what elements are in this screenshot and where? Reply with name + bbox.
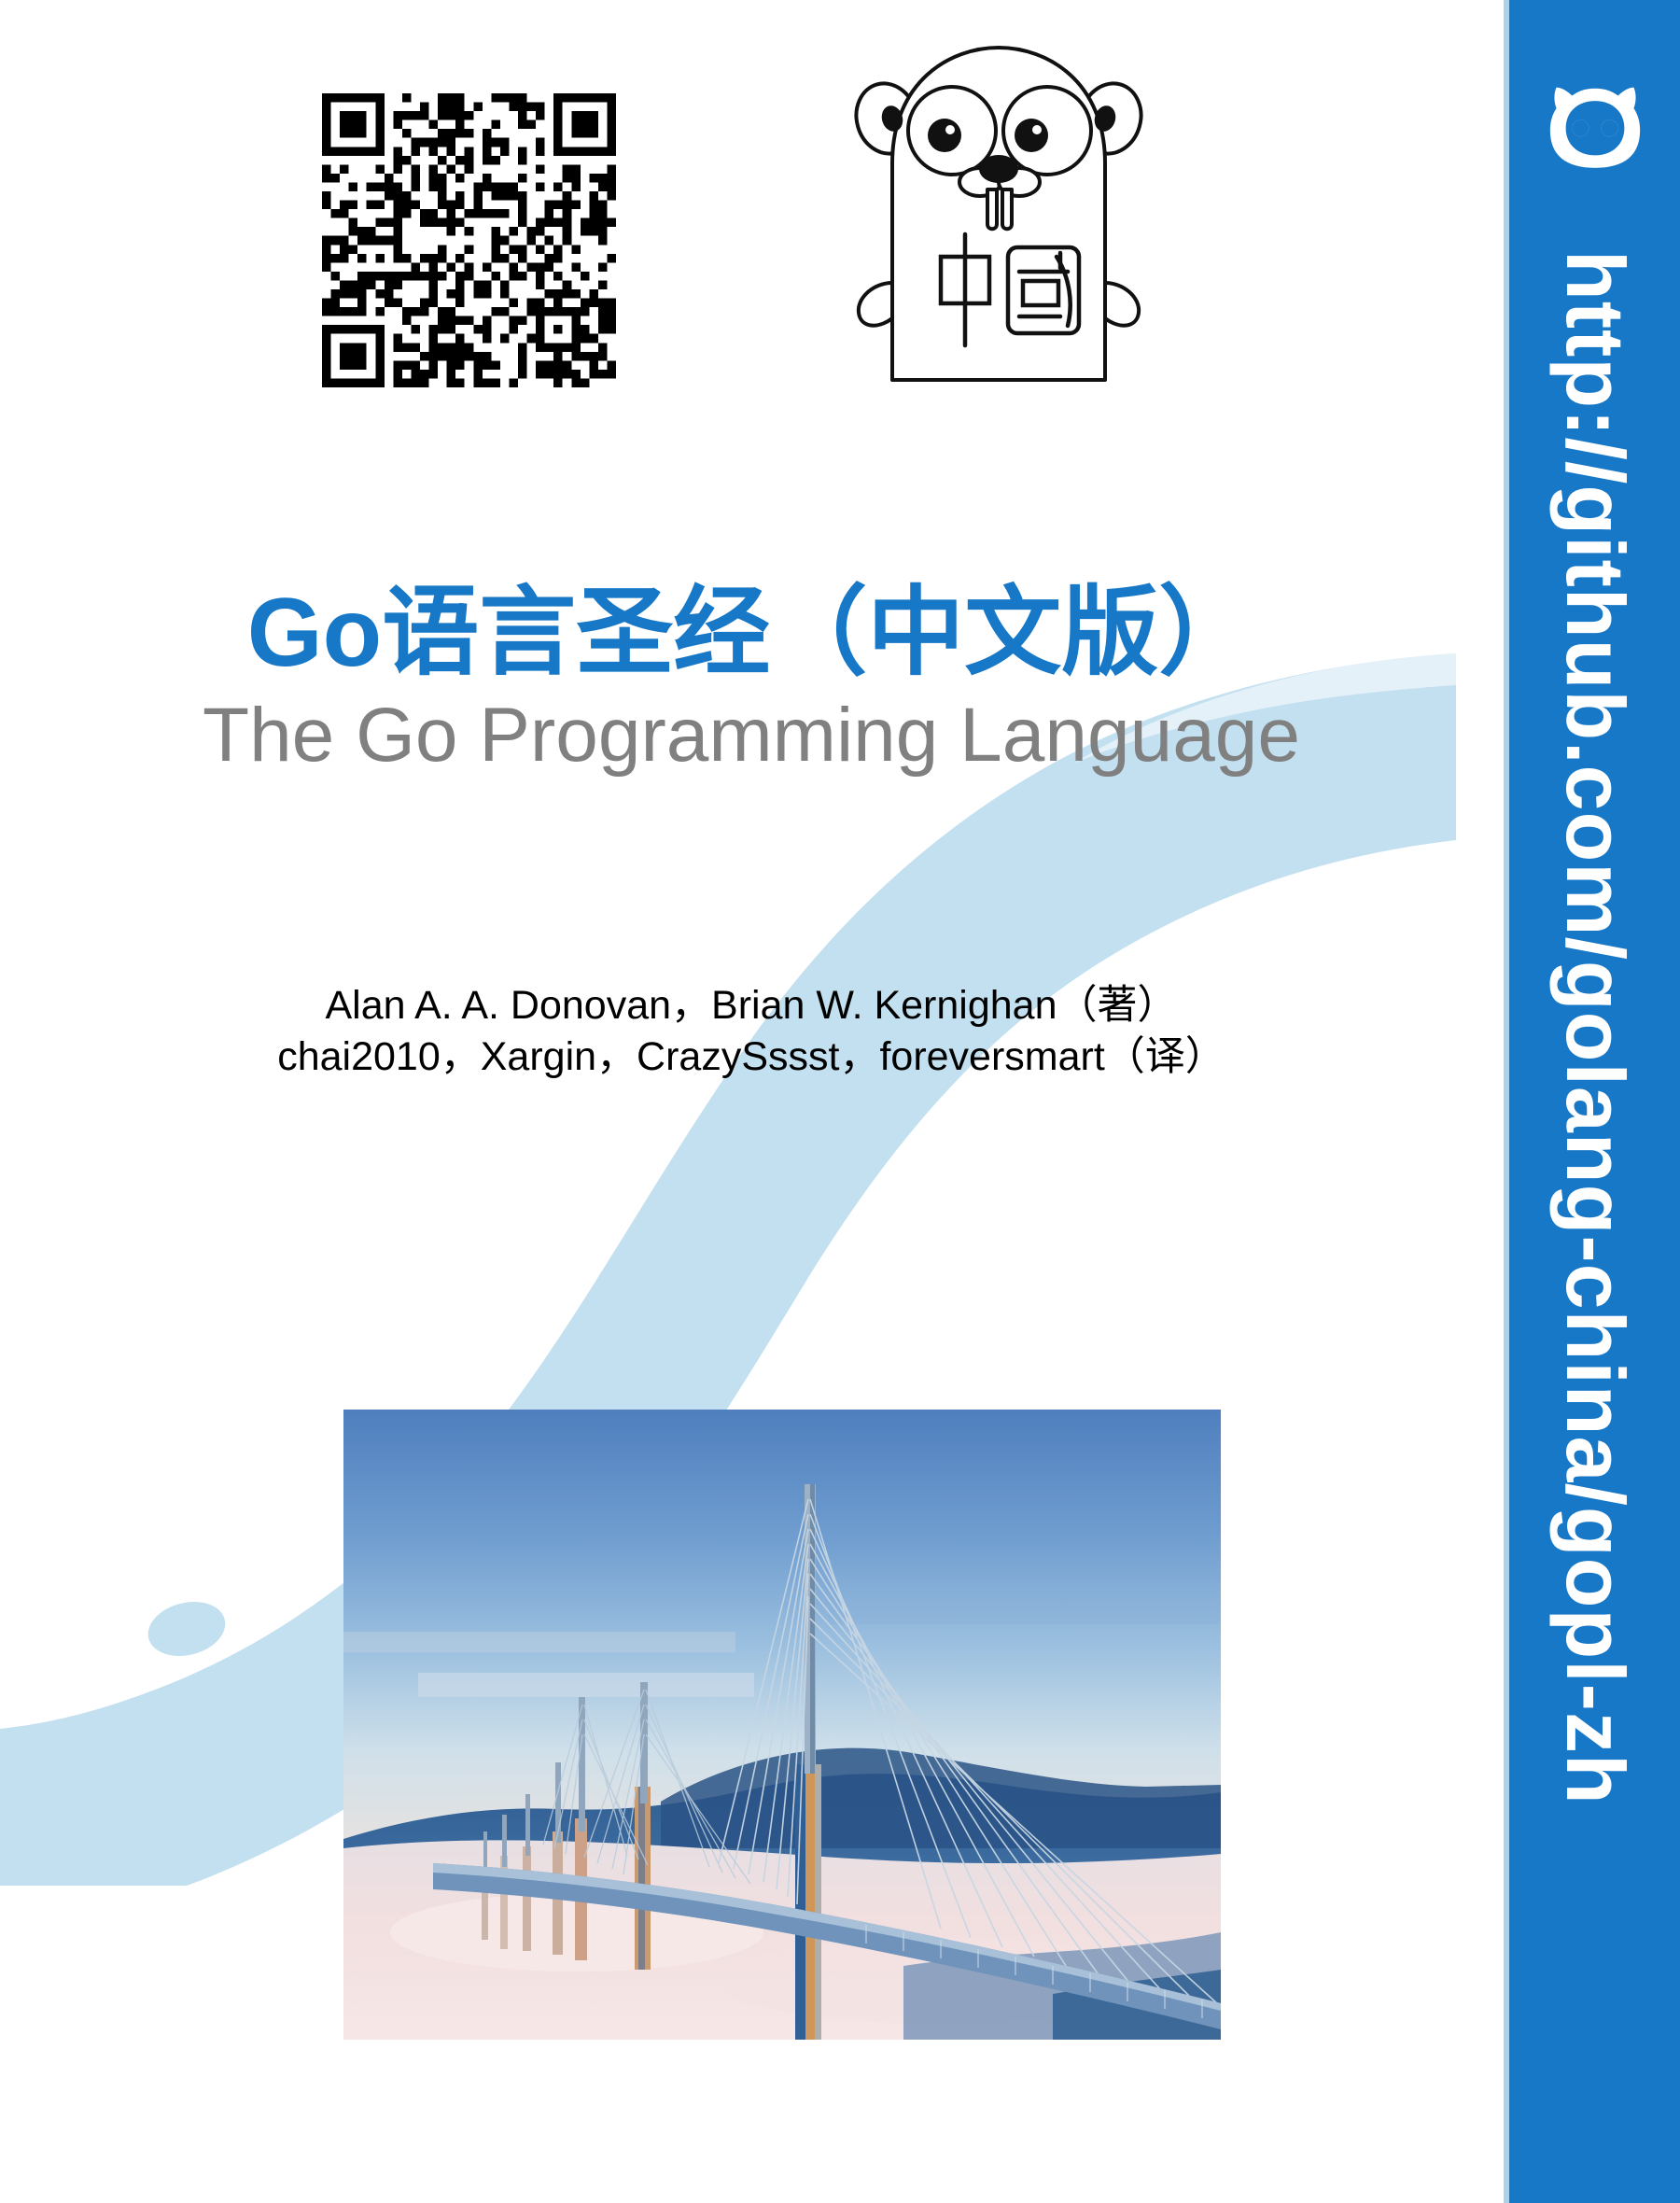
book-cover: Go语言圣经（中文版） The Go Programming Language … bbox=[0, 0, 1680, 2203]
repository-url[interactable]: http://github.com/golang-china/gopl-zh bbox=[1547, 250, 1643, 2117]
spine-band: http://github.com/golang-china/gopl-zh bbox=[1504, 0, 1680, 2203]
page-title-english: The Go Programming Language bbox=[0, 693, 1503, 779]
title-block: Go语言圣经（中文版） The Go Programming Language bbox=[0, 579, 1503, 779]
millau-viaduct-photo bbox=[343, 1410, 1221, 2040]
authors-line: Alan A. A. Donovan，Brian W. Kernighan（著） bbox=[0, 980, 1503, 1031]
page-title-chinese: Go语言圣经（中文版） bbox=[0, 579, 1503, 687]
translators-line: chai2010，Xargin，CrazySssst，foreversmart（… bbox=[0, 1031, 1503, 1083]
qr-code[interactable] bbox=[322, 93, 616, 387]
credits-block: Alan A. A. Donovan，Brian W. Kernighan（著）… bbox=[0, 980, 1503, 1083]
github-octocat-icon[interactable] bbox=[1543, 82, 1647, 187]
go-gopher-icon bbox=[840, 33, 1157, 383]
qr-code-canvas bbox=[322, 93, 616, 387]
